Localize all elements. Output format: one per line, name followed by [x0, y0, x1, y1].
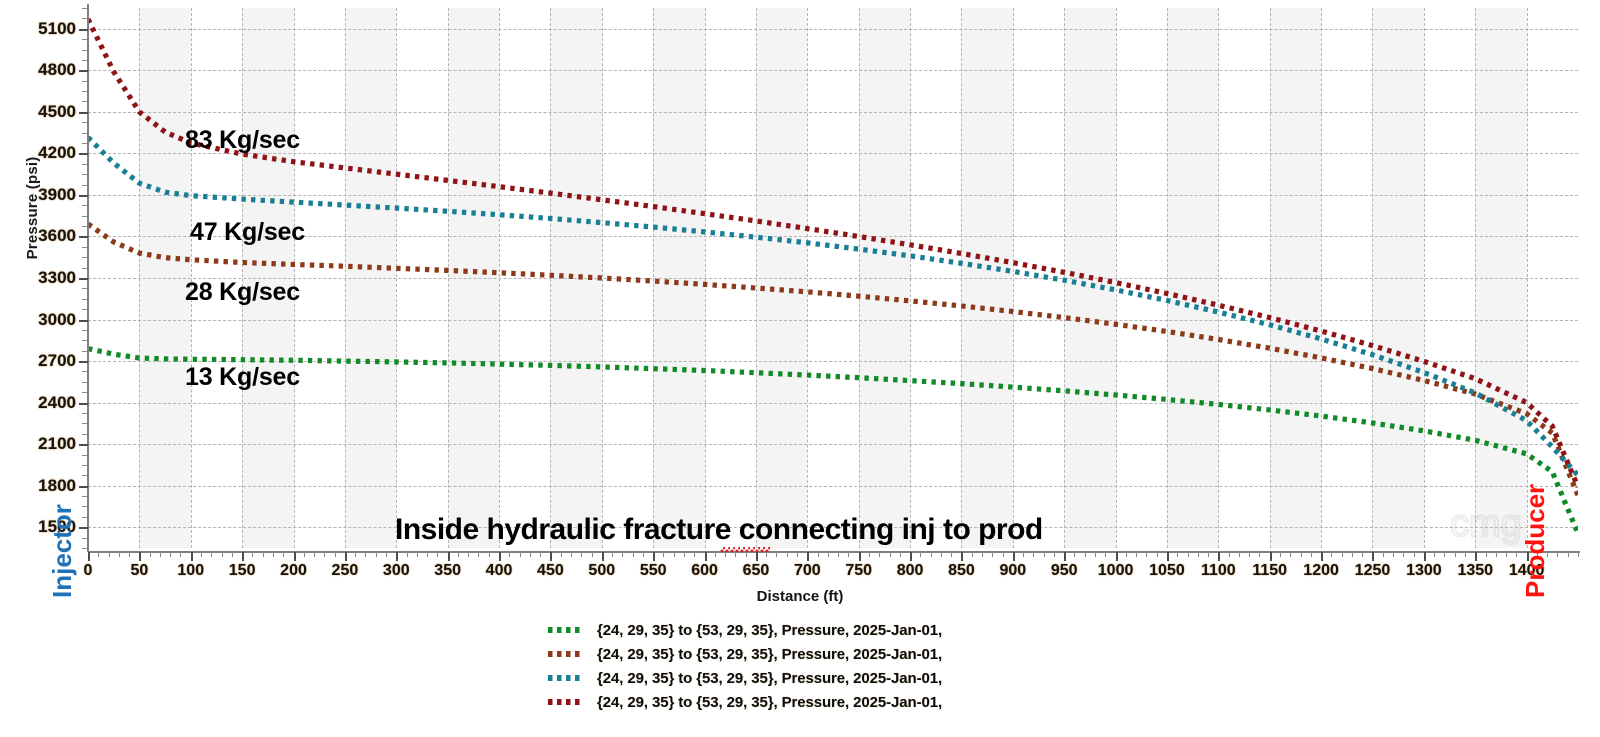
- x-minor-tick-mark: [1578, 552, 1579, 557]
- y-tick-mark: [79, 112, 88, 114]
- x-minor-tick-mark: [1506, 552, 1507, 557]
- y-minor-tick-mark: [82, 496, 88, 497]
- x-minor-tick-mark: [119, 552, 120, 557]
- series-line-3: [88, 137, 1578, 475]
- legend-swatch-icon: [548, 651, 584, 657]
- x-minor-tick-mark: [1033, 552, 1034, 557]
- x-tick-label: 50: [130, 562, 148, 580]
- x-axis-line: [88, 551, 1580, 553]
- x-minor-tick-mark: [1557, 552, 1558, 557]
- x-minor-tick-mark: [530, 552, 531, 557]
- y-minor-tick-mark: [82, 133, 88, 134]
- x-tick-mark: [1218, 552, 1220, 561]
- x-minor-tick-mark: [1085, 552, 1086, 557]
- x-minor-tick-mark: [1198, 552, 1199, 557]
- x-minor-tick-mark: [715, 552, 716, 557]
- y-minor-tick-mark: [82, 434, 88, 435]
- x-minor-tick-mark: [1023, 552, 1024, 557]
- x-minor-tick-mark: [920, 552, 921, 557]
- x-minor-tick-mark: [376, 552, 377, 557]
- x-tick-label: 100: [177, 562, 204, 580]
- y-minor-tick-mark: [82, 299, 88, 300]
- y-tick-label: 2400: [0, 393, 76, 413]
- x-minor-tick-mark: [407, 552, 408, 557]
- x-minor-tick-mark: [1486, 552, 1487, 557]
- x-minor-tick-mark: [1496, 552, 1497, 557]
- y-tick-mark: [79, 403, 88, 405]
- x-tick-mark: [294, 552, 296, 561]
- x-minor-tick-mark: [674, 552, 675, 557]
- x-minor-tick-mark: [735, 552, 736, 557]
- x-minor-tick-mark: [828, 552, 829, 557]
- x-minor-tick-mark: [622, 552, 623, 557]
- x-minor-tick-mark: [150, 552, 151, 557]
- x-minor-tick-mark: [283, 552, 284, 557]
- plot-area: 83 Kg/sec47 Kg/sec28 Kg/sec13 Kg/sec: [88, 8, 1578, 548]
- x-minor-tick-mark: [160, 552, 161, 557]
- x-minor-tick-mark: [386, 552, 387, 557]
- x-tick-label: 1050: [1149, 562, 1185, 580]
- x-minor-tick-mark: [612, 552, 613, 557]
- y-minor-tick-mark: [82, 122, 88, 123]
- x-tick-mark: [396, 552, 398, 561]
- spellcheck-underline: [720, 547, 770, 552]
- x-minor-tick-mark: [1074, 552, 1075, 557]
- x-tick-mark: [705, 552, 707, 561]
- y-minor-tick-mark: [82, 216, 88, 217]
- x-minor-tick-mark: [1044, 552, 1045, 557]
- x-minor-tick-mark: [1311, 552, 1312, 557]
- y-minor-tick-mark: [82, 174, 88, 175]
- y-tick-label: 4500: [0, 102, 76, 122]
- x-minor-tick-mark: [1455, 552, 1456, 557]
- x-minor-tick-mark: [1342, 552, 1343, 557]
- legend-item[interactable]: {24, 29, 35} to {53, 29, 35}, Pressure, …: [548, 690, 1108, 714]
- x-tick-mark: [1372, 552, 1374, 561]
- y-minor-tick-mark: [82, 371, 88, 372]
- x-minor-tick-mark: [232, 552, 233, 557]
- x-tick-label: 200: [280, 562, 307, 580]
- legend-label: {24, 29, 35} to {53, 29, 35}, Pressure, …: [597, 694, 942, 711]
- x-minor-tick-mark: [592, 552, 593, 557]
- x-minor-tick-mark: [1003, 552, 1004, 557]
- legend-item[interactable]: {24, 29, 35} to {53, 29, 35}, Pressure, …: [548, 666, 1108, 690]
- x-minor-tick-mark: [766, 552, 767, 557]
- x-minor-tick-mark: [304, 552, 305, 557]
- x-minor-tick-mark: [335, 552, 336, 557]
- x-minor-tick-mark: [931, 552, 932, 557]
- x-tick-mark: [1475, 552, 1477, 561]
- x-minor-tick-mark: [1054, 552, 1055, 557]
- x-minor-tick-mark: [540, 552, 541, 557]
- x-tick-mark: [1321, 552, 1323, 561]
- x-tick-label: 950: [1051, 562, 1078, 580]
- y-tick-mark: [79, 278, 88, 280]
- x-tick-label: 300: [383, 562, 410, 580]
- x-tick-label: 550: [640, 562, 667, 580]
- x-tick-mark: [1424, 552, 1426, 561]
- x-minor-tick-mark: [1095, 552, 1096, 557]
- y-tick-mark: [79, 70, 88, 72]
- x-minor-tick-mark: [776, 552, 777, 557]
- x-minor-tick-mark: [109, 552, 110, 557]
- x-minor-tick-mark: [263, 552, 264, 557]
- y-tick-mark: [79, 236, 88, 238]
- x-minor-tick-mark: [1434, 552, 1435, 557]
- y-minor-tick-mark: [82, 143, 88, 144]
- y-minor-tick-mark: [82, 340, 88, 341]
- x-minor-tick-mark: [951, 552, 952, 557]
- x-minor-tick-mark: [1301, 552, 1302, 557]
- y-minor-tick-mark: [82, 517, 88, 518]
- x-minor-tick-mark: [1126, 552, 1127, 557]
- legend-swatch-icon: [548, 675, 584, 681]
- legend-item[interactable]: {24, 29, 35} to {53, 29, 35}, Pressure, …: [548, 618, 1108, 642]
- x-tick-mark: [448, 552, 450, 561]
- y-tick-mark: [79, 444, 88, 446]
- x-minor-tick-mark: [1259, 552, 1260, 557]
- x-minor-tick-mark: [1280, 552, 1281, 557]
- x-tick-label: 900: [999, 562, 1026, 580]
- x-tick-label: 0: [84, 562, 93, 580]
- x-minor-tick-mark: [1136, 552, 1137, 557]
- x-minor-tick-mark: [900, 552, 901, 557]
- x-minor-tick-mark: [170, 552, 171, 557]
- x-tick-label: 1200: [1303, 562, 1339, 580]
- y-minor-tick-mark: [82, 455, 88, 456]
- x-minor-tick-mark: [1516, 552, 1517, 557]
- x-minor-tick-mark: [694, 552, 695, 557]
- producer-label: Producer: [1520, 458, 1550, 598]
- x-minor-tick-mark: [746, 552, 747, 557]
- x-tick-mark: [191, 552, 193, 561]
- x-minor-tick-mark: [1444, 552, 1445, 557]
- x-tick-mark: [602, 552, 604, 561]
- x-tick-mark: [1270, 552, 1272, 561]
- y-tick-mark: [79, 486, 88, 488]
- x-tick-mark: [807, 552, 809, 561]
- x-minor-tick-mark: [201, 552, 202, 557]
- y-minor-tick-mark: [82, 50, 88, 51]
- series-line-1: [88, 349, 1578, 534]
- x-minor-tick-mark: [633, 552, 634, 557]
- x-minor-tick-mark: [1229, 552, 1230, 557]
- y-minor-tick-mark: [82, 309, 88, 310]
- y-tick-label: 3000: [0, 310, 76, 330]
- x-minor-tick-mark: [1177, 552, 1178, 557]
- x-minor-tick-mark: [437, 552, 438, 557]
- y-minor-tick-mark: [82, 392, 88, 393]
- x-minor-tick-mark: [869, 552, 870, 557]
- legend-item[interactable]: {24, 29, 35} to {53, 29, 35}, Pressure, …: [548, 642, 1108, 666]
- y-tick-mark: [79, 527, 88, 529]
- x-minor-tick-mark: [581, 552, 582, 557]
- x-minor-tick-mark: [1105, 552, 1106, 557]
- x-minor-tick-mark: [797, 552, 798, 557]
- injector-label: Injector: [47, 468, 77, 598]
- y-minor-tick-mark: [82, 351, 88, 352]
- y-minor-tick-mark: [82, 413, 88, 414]
- x-tick-mark: [910, 552, 912, 561]
- y-tick-mark: [79, 195, 88, 197]
- x-tick-label: 850: [948, 562, 975, 580]
- y-minor-tick-mark: [82, 465, 88, 466]
- x-minor-tick-mark: [663, 552, 664, 557]
- x-minor-tick-mark: [211, 552, 212, 557]
- y-minor-tick-mark: [82, 257, 88, 258]
- x-minor-tick-mark: [1239, 552, 1240, 557]
- x-minor-tick-mark: [98, 552, 99, 557]
- x-tick-label: 1150: [1252, 562, 1287, 580]
- x-minor-tick-mark: [848, 552, 849, 557]
- y-tick-mark: [79, 320, 88, 322]
- x-tick-label: 250: [332, 562, 359, 580]
- annotation-28-kg-sec: 28 Kg/sec: [185, 278, 300, 307]
- x-tick-label: 750: [845, 562, 872, 580]
- x-minor-tick-mark: [355, 552, 356, 557]
- y-tick-label: 2100: [0, 434, 76, 454]
- x-minor-tick-mark: [1249, 552, 1250, 557]
- x-minor-tick-mark: [1362, 552, 1363, 557]
- series-curves: [88, 8, 1578, 548]
- x-minor-tick-mark: [992, 552, 993, 557]
- y-tick-label: 3600: [0, 226, 76, 246]
- y-minor-tick-mark: [82, 101, 88, 102]
- y-tick-label: 3900: [0, 185, 76, 205]
- annotation-47-kg-sec: 47 Kg/sec: [190, 218, 305, 247]
- pressure-distance-chart: Pressure (psi) 1500180021002400270030003…: [0, 0, 1600, 737]
- x-tick-mark: [550, 552, 552, 561]
- legend-swatch-icon: [548, 627, 584, 633]
- legend-label: {24, 29, 35} to {53, 29, 35}, Pressure, …: [597, 646, 942, 663]
- x-tick-label: 450: [537, 562, 564, 580]
- x-minor-tick-mark: [1331, 552, 1332, 557]
- y-minor-tick-mark: [82, 268, 88, 269]
- x-minor-tick-mark: [509, 552, 510, 557]
- y-minor-tick-mark: [82, 330, 88, 331]
- x-minor-tick-mark: [324, 552, 325, 557]
- x-minor-tick-mark: [1568, 552, 1569, 557]
- x-minor-tick-mark: [818, 552, 819, 557]
- x-minor-tick-mark: [1403, 552, 1404, 557]
- x-tick-mark: [499, 552, 501, 561]
- y-tick-mark: [79, 361, 88, 363]
- y-minor-tick-mark: [82, 382, 88, 383]
- y-minor-tick-mark: [82, 91, 88, 92]
- x-tick-label: 1300: [1406, 562, 1442, 580]
- x-minor-tick-mark: [417, 552, 418, 557]
- y-tick-mark: [79, 29, 88, 31]
- x-tick-label: 1100: [1201, 562, 1236, 580]
- y-tick-label: 5100: [0, 19, 76, 39]
- x-minor-tick-mark: [879, 552, 880, 557]
- y-minor-tick-mark: [82, 8, 88, 9]
- x-tick-mark: [961, 552, 963, 561]
- annotation-13-kg-sec: 13 Kg/sec: [185, 363, 300, 392]
- x-minor-tick-mark: [365, 552, 366, 557]
- x-minor-tick-mark: [180, 552, 181, 557]
- y-minor-tick-mark: [82, 81, 88, 82]
- y-minor-tick-mark: [82, 475, 88, 476]
- x-tick-mark: [1013, 552, 1015, 561]
- x-minor-tick-mark: [458, 552, 459, 557]
- y-minor-tick-mark: [82, 60, 88, 61]
- x-minor-tick-mark: [314, 552, 315, 557]
- x-minor-tick-mark: [478, 552, 479, 557]
- x-tick-label: 700: [794, 562, 821, 580]
- x-minor-tick-mark: [468, 552, 469, 557]
- x-minor-tick-mark: [1290, 552, 1291, 557]
- x-minor-tick-mark: [222, 552, 223, 557]
- y-tick-label: 2700: [0, 351, 76, 371]
- x-tick-label: 600: [691, 562, 718, 580]
- x-tick-mark: [756, 552, 758, 561]
- x-minor-tick-mark: [1146, 552, 1147, 557]
- x-tick-label: 1000: [1098, 562, 1134, 580]
- x-minor-tick-mark: [1383, 552, 1384, 557]
- y-minor-tick-mark: [82, 288, 88, 289]
- y-minor-tick-mark: [82, 423, 88, 424]
- y-minor-tick-mark: [82, 39, 88, 40]
- x-minor-tick-mark: [489, 552, 490, 557]
- x-tick-label: 800: [897, 562, 924, 580]
- x-minor-tick-mark: [252, 552, 253, 557]
- chart-title: Inside hydraulic fracture connecting inj…: [395, 513, 1043, 547]
- x-minor-tick-mark: [1208, 552, 1209, 557]
- y-minor-tick-mark: [82, 247, 88, 248]
- x-tick-mark: [139, 552, 141, 561]
- x-tick-label: 650: [743, 562, 770, 580]
- y-minor-tick-mark: [82, 185, 88, 186]
- x-tick-label: 150: [229, 562, 256, 580]
- x-tick-mark: [1167, 552, 1169, 561]
- legend-label: {24, 29, 35} to {53, 29, 35}, Pressure, …: [597, 622, 942, 639]
- x-minor-tick-mark: [520, 552, 521, 557]
- x-minor-tick-mark: [273, 552, 274, 557]
- x-tick-mark: [653, 552, 655, 561]
- chart-legend: {24, 29, 35} to {53, 29, 35}, Pressure, …: [548, 618, 1108, 714]
- x-minor-tick-mark: [725, 552, 726, 557]
- x-tick-label: 350: [434, 562, 461, 580]
- y-minor-tick-mark: [82, 538, 88, 539]
- y-minor-tick-mark: [82, 205, 88, 206]
- x-tick-mark: [1064, 552, 1066, 561]
- x-tick-mark: [1116, 552, 1118, 561]
- y-tick-label: 3300: [0, 268, 76, 288]
- series-line-4: [88, 19, 1578, 487]
- y-minor-tick-mark: [82, 164, 88, 165]
- y-minor-tick-mark: [82, 18, 88, 19]
- x-minor-tick-mark: [571, 552, 572, 557]
- x-tick-label: 1350: [1457, 562, 1493, 580]
- x-minor-tick-mark: [684, 552, 685, 557]
- y-minor-tick-mark: [82, 506, 88, 507]
- x-minor-tick-mark: [787, 552, 788, 557]
- x-minor-tick-mark: [561, 552, 562, 557]
- x-minor-tick-mark: [972, 552, 973, 557]
- x-minor-tick-mark: [890, 552, 891, 557]
- x-tick-label: 1250: [1355, 562, 1391, 580]
- x-minor-tick-mark: [427, 552, 428, 557]
- x-minor-tick-mark: [941, 552, 942, 557]
- legend-label: {24, 29, 35} to {53, 29, 35}, Pressure, …: [597, 670, 942, 687]
- x-tick-label: 400: [486, 562, 513, 580]
- y-minor-tick-mark: [82, 548, 88, 549]
- x-minor-tick-mark: [838, 552, 839, 557]
- x-minor-tick-mark: [982, 552, 983, 557]
- x-minor-tick-mark: [1188, 552, 1189, 557]
- x-axis-title: Distance (ft): [0, 588, 1600, 605]
- y-tick-label: 4800: [0, 60, 76, 80]
- x-minor-tick-mark: [1352, 552, 1353, 557]
- x-tick-mark: [859, 552, 861, 561]
- annotation-83-kg-sec: 83 Kg/sec: [185, 126, 300, 155]
- x-tick-mark: [345, 552, 347, 561]
- x-minor-tick-mark: [643, 552, 644, 557]
- x-tick-label: 500: [588, 562, 615, 580]
- x-minor-tick-mark: [1393, 552, 1394, 557]
- x-minor-tick-mark: [1465, 552, 1466, 557]
- legend-swatch-icon: [548, 699, 584, 705]
- x-minor-tick-mark: [1157, 552, 1158, 557]
- x-tick-mark: [242, 552, 244, 561]
- x-minor-tick-mark: [129, 552, 130, 557]
- x-minor-tick-mark: [1414, 552, 1415, 557]
- y-minor-tick-mark: [82, 226, 88, 227]
- y-tick-label: 4200: [0, 143, 76, 163]
- y-tick-mark: [79, 153, 88, 155]
- x-tick-mark: [88, 552, 90, 561]
